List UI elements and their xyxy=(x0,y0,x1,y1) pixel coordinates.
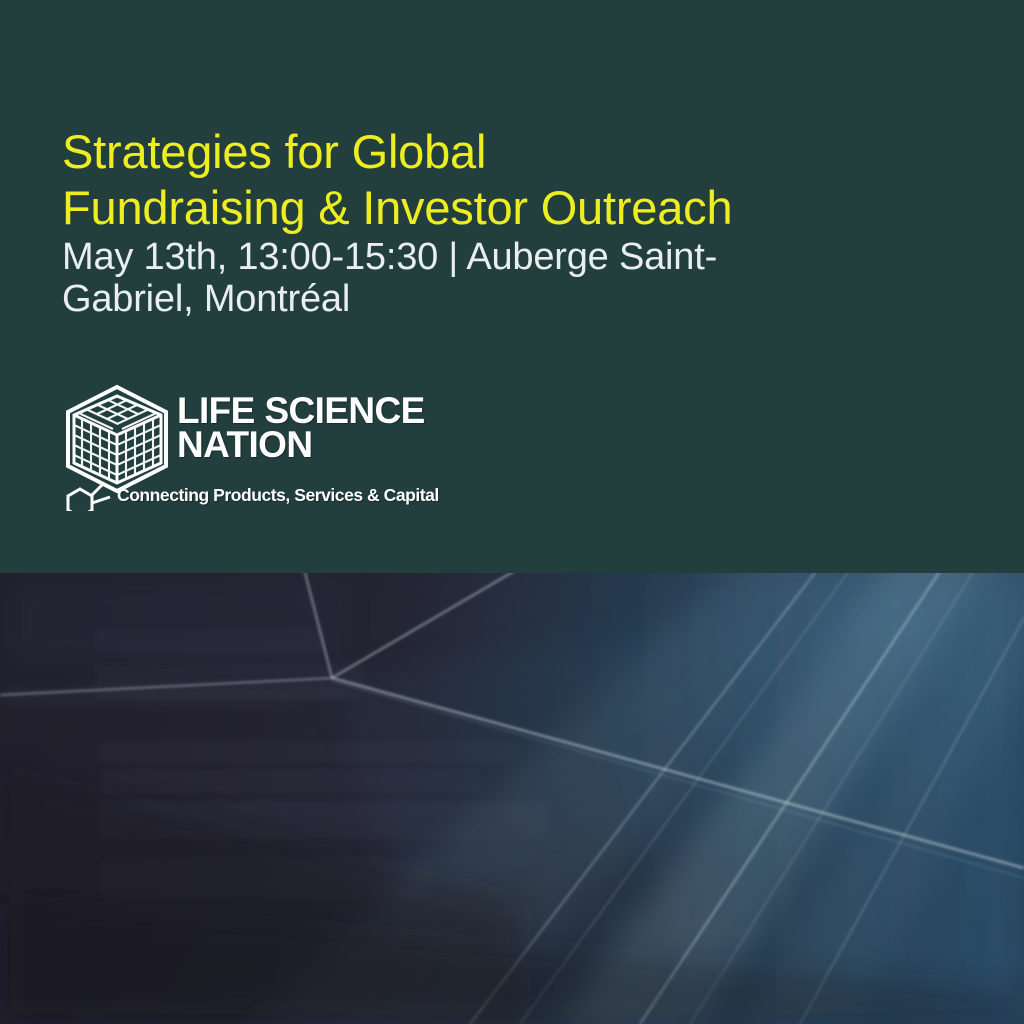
event-details: May 13th, 13:00-15:30 | Auberge Saint- G… xyxy=(62,236,762,320)
life-science-nation-logo[interactable]: LIFE SCIENCE NATION Connecting Products,… xyxy=(62,383,472,513)
event-title: Strategies for Global Fundraising & Inve… xyxy=(62,124,962,236)
logo-wordmark: LIFE SCIENCE NATION xyxy=(177,394,477,462)
logo-tagline: Connecting Products, Services & Capital xyxy=(117,485,439,506)
event-promo-card: Strategies for Global Fundraising & Inve… xyxy=(0,0,1024,1024)
header-panel: Strategies for Global Fundraising & Inve… xyxy=(0,0,1024,573)
hero-background-image xyxy=(0,573,1024,1024)
